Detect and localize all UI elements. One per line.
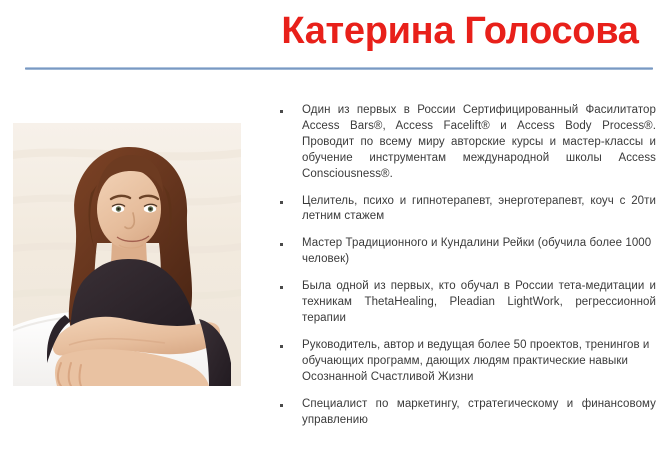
list-item: Специалист по маркетингу, стратегическом… — [272, 397, 656, 429]
list-item: Один из первых в России Сертифицированны… — [272, 103, 656, 183]
list-item: Целитель, психо и гипнотерапевт, энергот… — [272, 194, 656, 226]
title-divider-line — [25, 67, 653, 70]
list-item-text: Руководитель, автор и ведущая более 50 п… — [302, 338, 656, 386]
presentation-slide: Катерина Голосова — [0, 0, 658, 451]
square-bullet-icon — [280, 110, 283, 113]
list-item-text: Целитель, психо и гипнотерапевт, энергот… — [302, 194, 656, 226]
portrait-photo-image — [13, 123, 241, 386]
list-item: Была одной из первых, кто обучал в Росси… — [272, 279, 656, 327]
square-bullet-icon — [280, 286, 283, 289]
portrait-photo — [13, 123, 241, 386]
square-bullet-icon — [280, 345, 283, 348]
list-item-text: Специалист по маркетингу, стратегическом… — [302, 397, 656, 429]
square-bullet-icon — [280, 404, 283, 407]
list-item: Руководитель, автор и ведущая более 50 п… — [272, 338, 656, 386]
biography-bullet-list: Один из первых в России Сертифицированны… — [272, 103, 656, 428]
list-item-text: Мастер Традиционного и Кундалини Рейки (… — [302, 236, 656, 268]
list-item-text: Один из первых в России Сертифицированны… — [302, 103, 656, 183]
square-bullet-icon — [280, 201, 283, 204]
square-bullet-icon — [280, 243, 283, 246]
list-item-text: Была одной из первых, кто обучал в Росси… — [302, 279, 656, 327]
list-item: Мастер Традиционного и Кундалини Рейки (… — [272, 236, 656, 268]
page-title: Катерина Голосова — [270, 8, 650, 56]
